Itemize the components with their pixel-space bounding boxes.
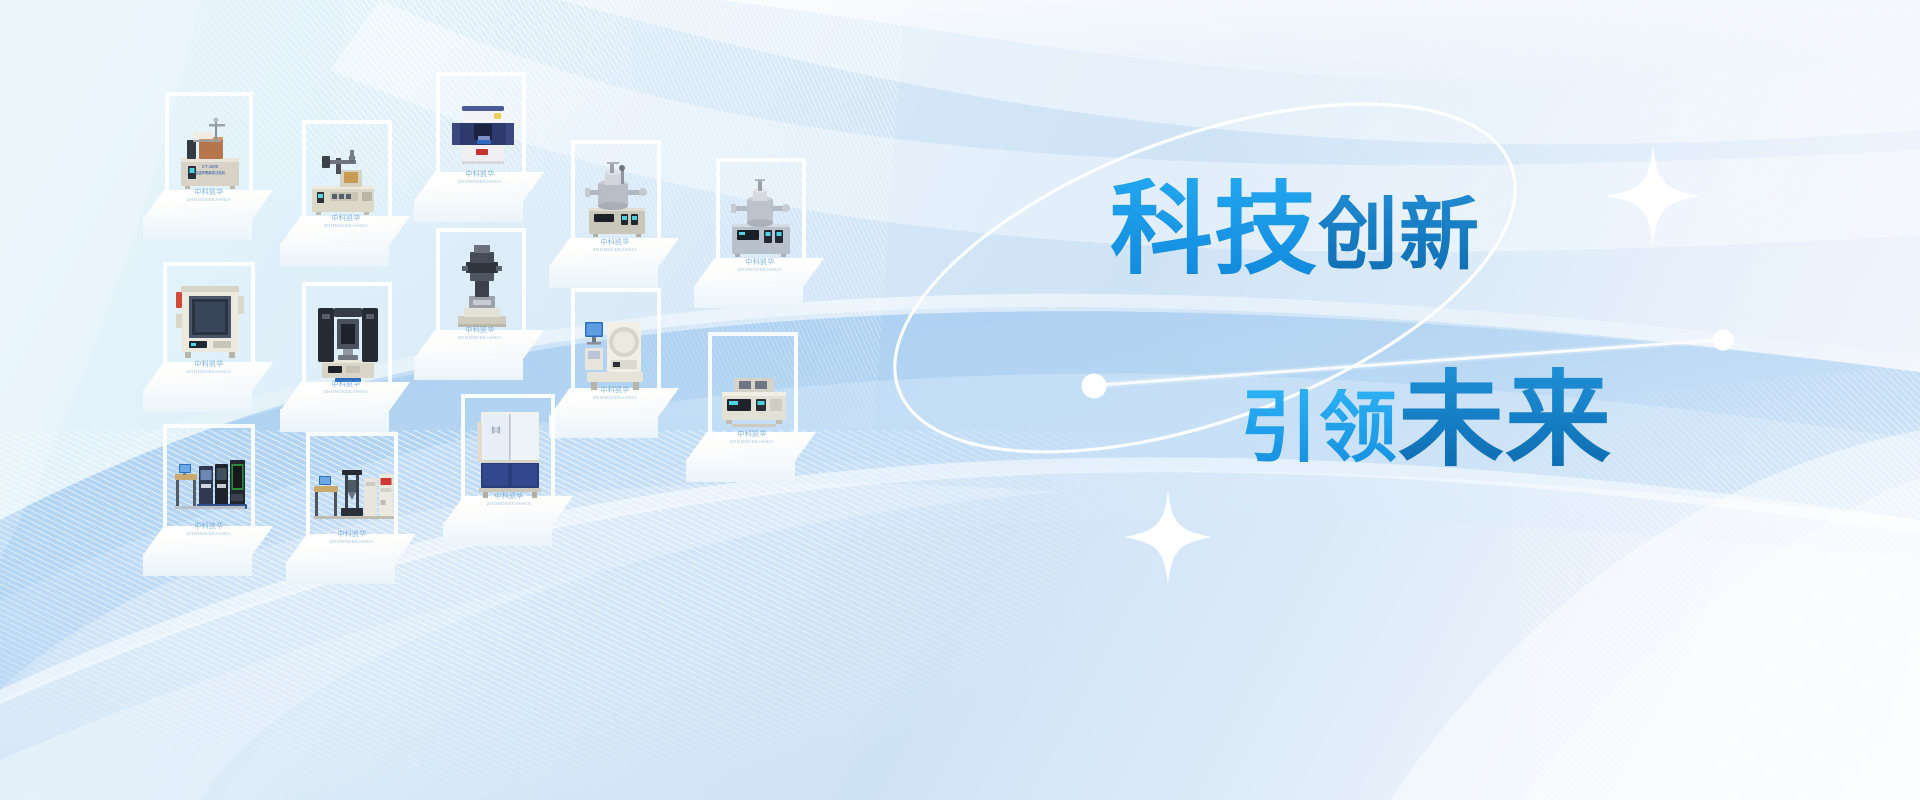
product-card-environmental-chamber-bench[interactable]: 中科凯华ZHONGKEKAIHUA	[443, 394, 579, 554]
product-photo	[444, 86, 522, 178]
product-card-magnetron-sputtering-coater[interactable]: 中科凯华ZHONGKEKAIHUA	[549, 140, 685, 300]
product-watermark: 中科凯华ZHONGKEKAIHUA	[187, 521, 231, 536]
product-watermark: 中科凯华ZHONGKEKAIHUA	[324, 379, 368, 394]
product-card-high-temperature-friction-tester[interactable]: 中科凯华ZHONGKEKAIHUA	[280, 282, 416, 442]
product-photo	[308, 292, 388, 388]
headline-line2-strong: 未来	[1398, 367, 1612, 473]
product-photo	[167, 442, 253, 530]
hero-banner: CT-1000 高温摩擦磨损试验机 中科凯华ZHONGKEKAIHUA	[0, 0, 1920, 800]
product-watermark: 中科凯华ZHONGKEKAIHUA	[593, 237, 637, 252]
product-photo	[467, 402, 553, 500]
product-watermark: 中科凯华ZHONGKEKAIHUA	[330, 529, 374, 544]
product-card-nano-indentation-tester[interactable]: 中科凯华ZHONGKEKAIHUA	[414, 72, 550, 232]
product-card-vacuum-chamber-furnace[interactable]: 中科凯华ZHONGKEKAIHUA	[143, 262, 279, 422]
product-card-micro-friction-wear-tester[interactable]: 中科凯华ZHONGKEKAIHUA	[280, 120, 416, 280]
headline-line-1: 科技 创新	[1110, 178, 1810, 281]
headline-block: 科技 创新 引领 未来	[1110, 178, 1810, 473]
headline-line2-light: 引领	[1240, 389, 1398, 467]
product-watermark: 中科凯华ZHONGKEKAIHUA	[458, 169, 502, 184]
product-watermark: 中科凯华ZHONGKEKAIHUA	[324, 213, 368, 228]
product-photo	[575, 298, 659, 394]
product-watermark: 中科凯华ZHONGKEKAIHUA	[187, 359, 231, 374]
svg-text:高温摩擦磨损试验机: 高温摩擦磨损试验机	[195, 170, 226, 175]
product-photo	[308, 452, 396, 538]
headline-line1-light: 创新	[1318, 195, 1480, 275]
orbit-dot-left	[1082, 374, 1107, 399]
product-watermark: 中科凯华ZHONGKEKAIHUA	[458, 325, 502, 340]
product-watermark: 中科凯华ZHONGKEKAIHUA	[730, 429, 774, 444]
product-card-optical-microscope-profiler[interactable]: 中科凯华ZHONGKEKAIHUA	[414, 228, 550, 388]
product-photo: CT-1000 高温摩擦磨损试验机	[171, 110, 249, 194]
product-photo	[712, 346, 796, 436]
product-photo	[577, 150, 657, 244]
product-watermark: 中科凯华ZHONGKEKAIHUA	[738, 257, 782, 272]
product-card-rolling-contact-fatigue-tester[interactable]: CT-1000 高温摩擦磨损试验机 中科凯华ZHONGKEKAIHUA	[143, 92, 279, 252]
headline-line1-strong: 科技	[1110, 178, 1318, 281]
product-photo	[306, 134, 390, 222]
product-photo	[444, 236, 520, 334]
product-watermark: 中科凯华ZHONGKEKAIHUA	[487, 491, 531, 506]
product-photo	[722, 168, 802, 264]
product-card-desktop-measurement-workstation[interactable]: 中科凯华ZHONGKEKAIHUA	[686, 332, 822, 492]
headline-line-2: 引领 未来	[1240, 367, 1810, 473]
product-photo	[167, 272, 253, 366]
product-showcase-grid: CT-1000 高温摩擦磨损试验机 中科凯华ZHONGKEKAIHUA	[0, 0, 900, 800]
product-card-electrical-test-cabinet-set[interactable]: 中科凯华ZHONGKEKAIHUA	[143, 424, 279, 584]
svg-text:CT-1000: CT-1000	[202, 164, 219, 169]
product-card-vacuum-deposition-system[interactable]: 中科凯华ZHONGKEKAIHUA	[694, 158, 830, 318]
product-watermark: 中科凯华ZHONGKEKAIHUA	[187, 187, 231, 202]
four-point-star-bottom	[1124, 490, 1212, 584]
product-card-universal-testing-machine[interactable]: 中科凯华ZHONGKEKAIHUA	[286, 432, 422, 592]
product-watermark: 中科凯华ZHONGKEKAIHUA	[593, 385, 637, 400]
